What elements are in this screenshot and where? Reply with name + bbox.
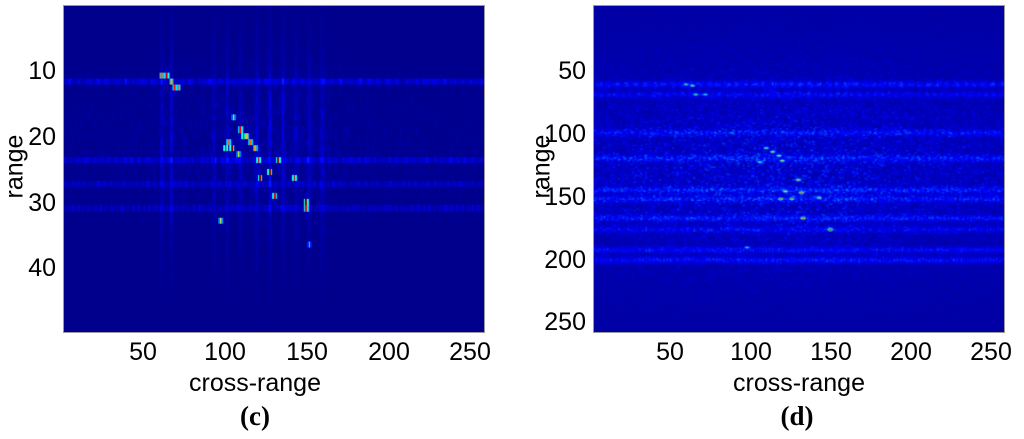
- xtick-d-1: 100: [719, 340, 783, 365]
- yaxis-label-c: range: [1, 117, 30, 217]
- figure-container: 10 20 30 40 50 100 150 200 250 range cro…: [0, 0, 1024, 439]
- xtick-c-0: 50: [113, 340, 173, 365]
- ytick-d-4: 250: [512, 310, 586, 335]
- heatmap-canvas-d: [594, 6, 1004, 332]
- caption-d: (d): [757, 401, 837, 432]
- xtick-c-1: 100: [193, 340, 257, 365]
- panel-d: 50 100 150 200 250 50 100 150 200 250 ra…: [512, 0, 1024, 439]
- ytick-c-0: 10: [0, 59, 56, 84]
- heatmap-canvas-c: [64, 6, 484, 332]
- ytick-d-0: 50: [512, 59, 586, 84]
- xtick-d-2: 150: [799, 340, 863, 365]
- xtick-d-3: 200: [879, 340, 943, 365]
- xtick-c-4: 250: [438, 340, 502, 365]
- xaxis-label-c: cross-range: [155, 369, 355, 398]
- xtick-c-2: 150: [275, 340, 339, 365]
- xtick-c-3: 200: [357, 340, 421, 365]
- ytick-c-3: 40: [0, 256, 56, 281]
- panel-c: 10 20 30 40 50 100 150 200 250 range cro…: [0, 0, 512, 439]
- yaxis-label-d: range: [528, 117, 557, 217]
- xaxis-label-d: cross-range: [699, 369, 899, 398]
- ytick-d-3: 200: [512, 248, 586, 273]
- caption-c: (c): [215, 401, 295, 432]
- heatmap-panel-c: [63, 5, 485, 333]
- xtick-d-0: 50: [640, 340, 700, 365]
- xtick-d-4: 250: [959, 340, 1023, 365]
- heatmap-panel-d: [593, 5, 1005, 333]
